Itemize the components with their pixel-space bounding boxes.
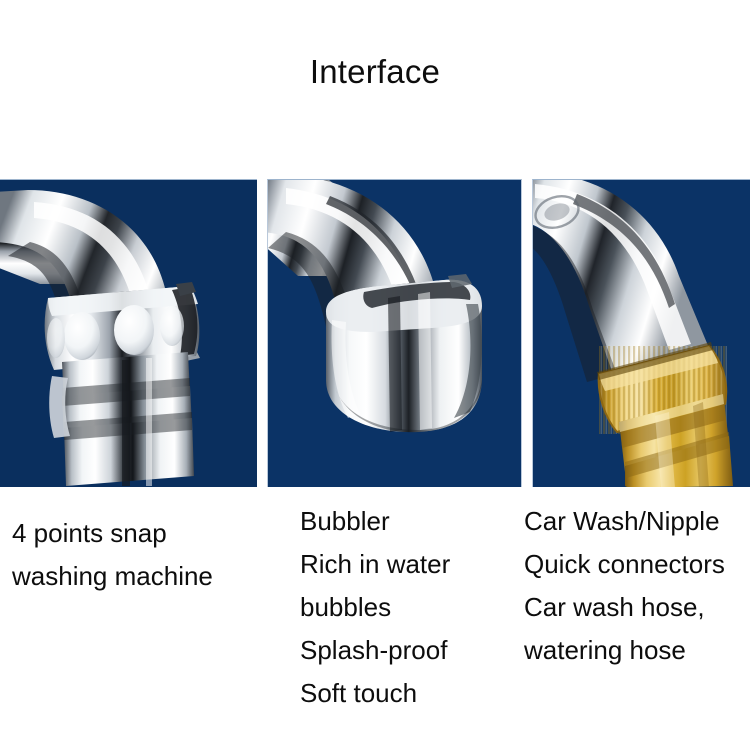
faucet-bubbler-illustration bbox=[268, 180, 522, 487]
caption-line: Car wash hose, bbox=[524, 586, 725, 629]
caption-line: Car Wash/Nipple bbox=[524, 500, 725, 543]
caption-quick-connector: Car Wash/Nipple Quick connectors Car was… bbox=[524, 500, 725, 672]
caption-line: washing machine bbox=[12, 555, 213, 598]
faucet-snap-illustration bbox=[0, 180, 257, 487]
caption-line: Bubbler bbox=[300, 500, 450, 543]
caption-line: 4 points snap bbox=[12, 512, 213, 555]
caption-line: Soft touch bbox=[300, 672, 450, 715]
product-photo-4-point-snap bbox=[0, 179, 257, 487]
panel-gutter-1 bbox=[257, 179, 267, 487]
product-photo-quick-connector bbox=[532, 179, 750, 487]
caption-line: Rich in water bbox=[300, 543, 450, 586]
panel-gutter-2 bbox=[522, 179, 532, 487]
faucet-brass-connector-illustration bbox=[533, 180, 750, 487]
caption-4-point-snap: 4 points snap washing machine bbox=[12, 512, 213, 598]
caption-line: bubbles bbox=[300, 586, 450, 629]
page-title: Interface bbox=[0, 52, 750, 92]
caption-line: watering hose bbox=[524, 629, 725, 672]
product-photo-bubbler bbox=[267, 179, 522, 487]
caption-line: Quick connectors bbox=[524, 543, 725, 586]
product-image-strip bbox=[0, 179, 750, 487]
caption-line: Splash-proof bbox=[300, 629, 450, 672]
caption-bubbler: Bubbler Rich in water bubbles Splash-pro… bbox=[300, 500, 450, 715]
